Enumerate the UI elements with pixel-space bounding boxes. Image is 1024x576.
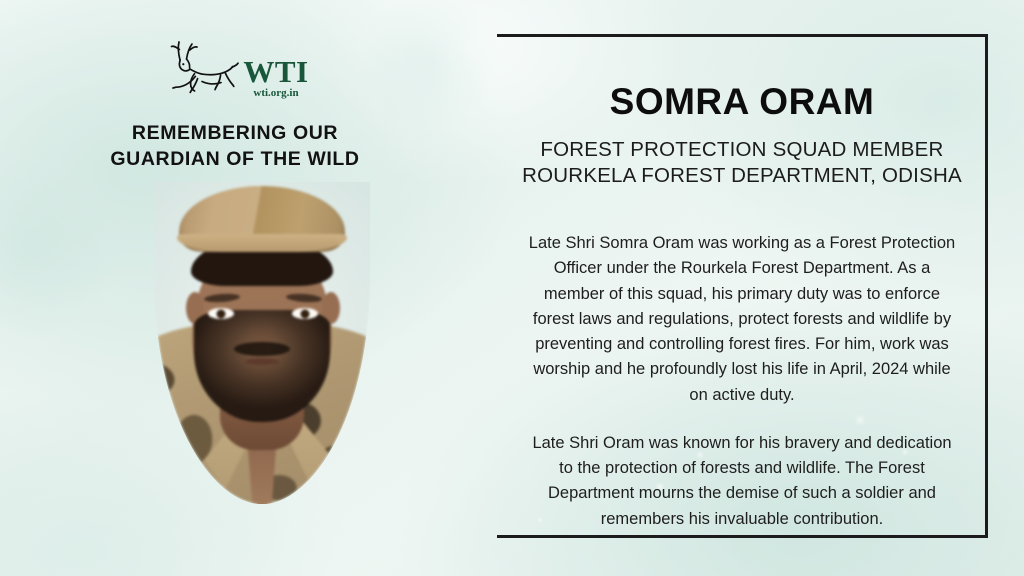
role-line-1: FOREST PROTECTION SQUAD MEMBER <box>507 137 977 163</box>
frame-right-border <box>985 34 988 538</box>
person-name: SOMRA ORAM <box>507 82 977 123</box>
leaping-deer-logo-icon <box>161 40 239 103</box>
memorial-poster: WTI wti.org.in REMEMBERING OUR GUARDIAN … <box>0 0 1024 576</box>
tagline: REMEMBERING OUR GUARDIAN OF THE WILD <box>0 121 470 172</box>
tagline-line-1: REMEMBERING OUR <box>0 121 470 147</box>
person-role: FOREST PROTECTION SQUAD MEMBER ROURKELA … <box>507 137 977 189</box>
right-panel: SOMRA ORAM FOREST PROTECTION SQUAD MEMBE… <box>497 34 988 538</box>
portrait-photo <box>108 182 416 504</box>
left-column: WTI wti.org.in REMEMBERING OUR GUARDIAN … <box>0 0 470 576</box>
wti-wordmark: WTI wti.org.in <box>243 56 308 103</box>
portrait-softening-overlay <box>108 182 416 504</box>
portrait-image <box>108 182 416 504</box>
biography-paragraph-2: Late Shri Oram was known for his bravery… <box>526 431 958 532</box>
biography-paragraph-1: Late Shri Somra Oram was working as a Fo… <box>526 231 958 408</box>
wti-wordmark-text: WTI <box>243 56 308 87</box>
wti-website-url: wti.org.in <box>253 88 298 99</box>
tagline-line-2: GUARDIAN OF THE WILD <box>0 147 470 173</box>
role-line-2: ROURKELA FOREST DEPARTMENT, ODISHA <box>507 163 977 189</box>
panel-content: SOMRA ORAM FOREST PROTECTION SQUAD MEMBE… <box>507 34 977 538</box>
wti-logo: WTI wti.org.in <box>0 40 470 103</box>
